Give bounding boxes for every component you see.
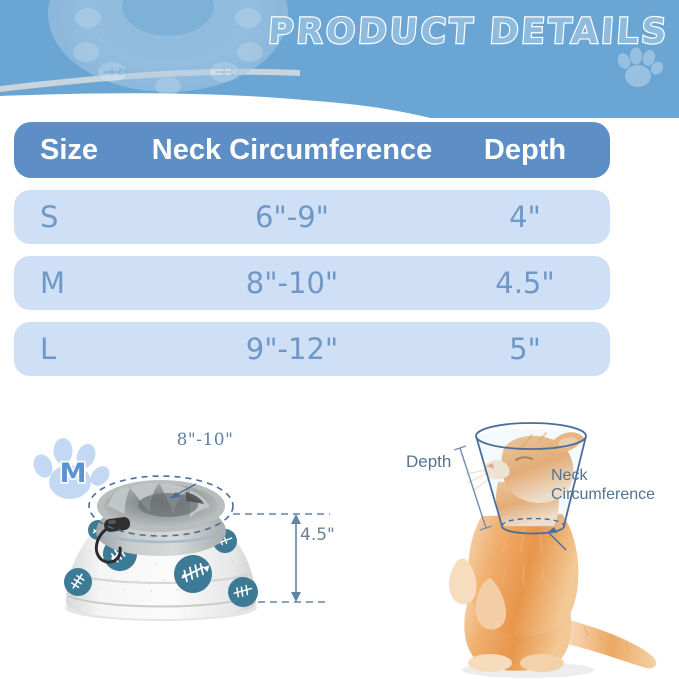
neck-circumference-label: Neck Circumference (551, 466, 671, 504)
cell-size: M (14, 266, 144, 300)
column-header-size: Size (14, 134, 144, 167)
cell-neck: 8"-10" (144, 266, 440, 300)
cat-measurement-diagram: Depth Neck Circumference (398, 404, 679, 679)
table-row: M 8"-10" 4.5" (14, 256, 610, 310)
cell-size: L (14, 332, 144, 366)
cell-neck: 6"-9" (144, 200, 440, 234)
product-measurement-diagram: M (0, 406, 350, 679)
cell-neck: 9"-12" (144, 332, 440, 366)
depth-measure-label: 4.5" (300, 525, 360, 545)
neck-label-line-2: Circumference (551, 486, 655, 503)
size-table: Size Neck Circumference Depth S 6"-9" 4"… (14, 122, 610, 388)
page-title: PRODUCT DETAILS (266, 8, 669, 58)
cell-depth: 4" (440, 200, 610, 234)
depth-label: Depth (406, 452, 451, 472)
cat-illustration (398, 404, 679, 679)
neck-label-line-1: Neck (551, 467, 587, 484)
neck-measure-label: 8"-10" (150, 430, 260, 450)
column-header-neck: Neck Circumference (144, 134, 440, 167)
column-header-depth: Depth (440, 134, 610, 167)
product-details-infographic: PRODUCT DETAILS Size Neck Circumference … (0, 0, 679, 679)
cell-depth: 5" (440, 332, 610, 366)
table-row: S 6"-9" 4" (14, 190, 610, 244)
cell-depth: 4.5" (440, 266, 610, 300)
table-row: L 9"-12" 5" (14, 322, 610, 376)
cat-tail (566, 620, 656, 668)
header-banner: PRODUCT DETAILS (0, 0, 679, 118)
table-header-row: Size Neck Circumference Depth (14, 122, 610, 178)
cell-size: S (14, 200, 144, 234)
